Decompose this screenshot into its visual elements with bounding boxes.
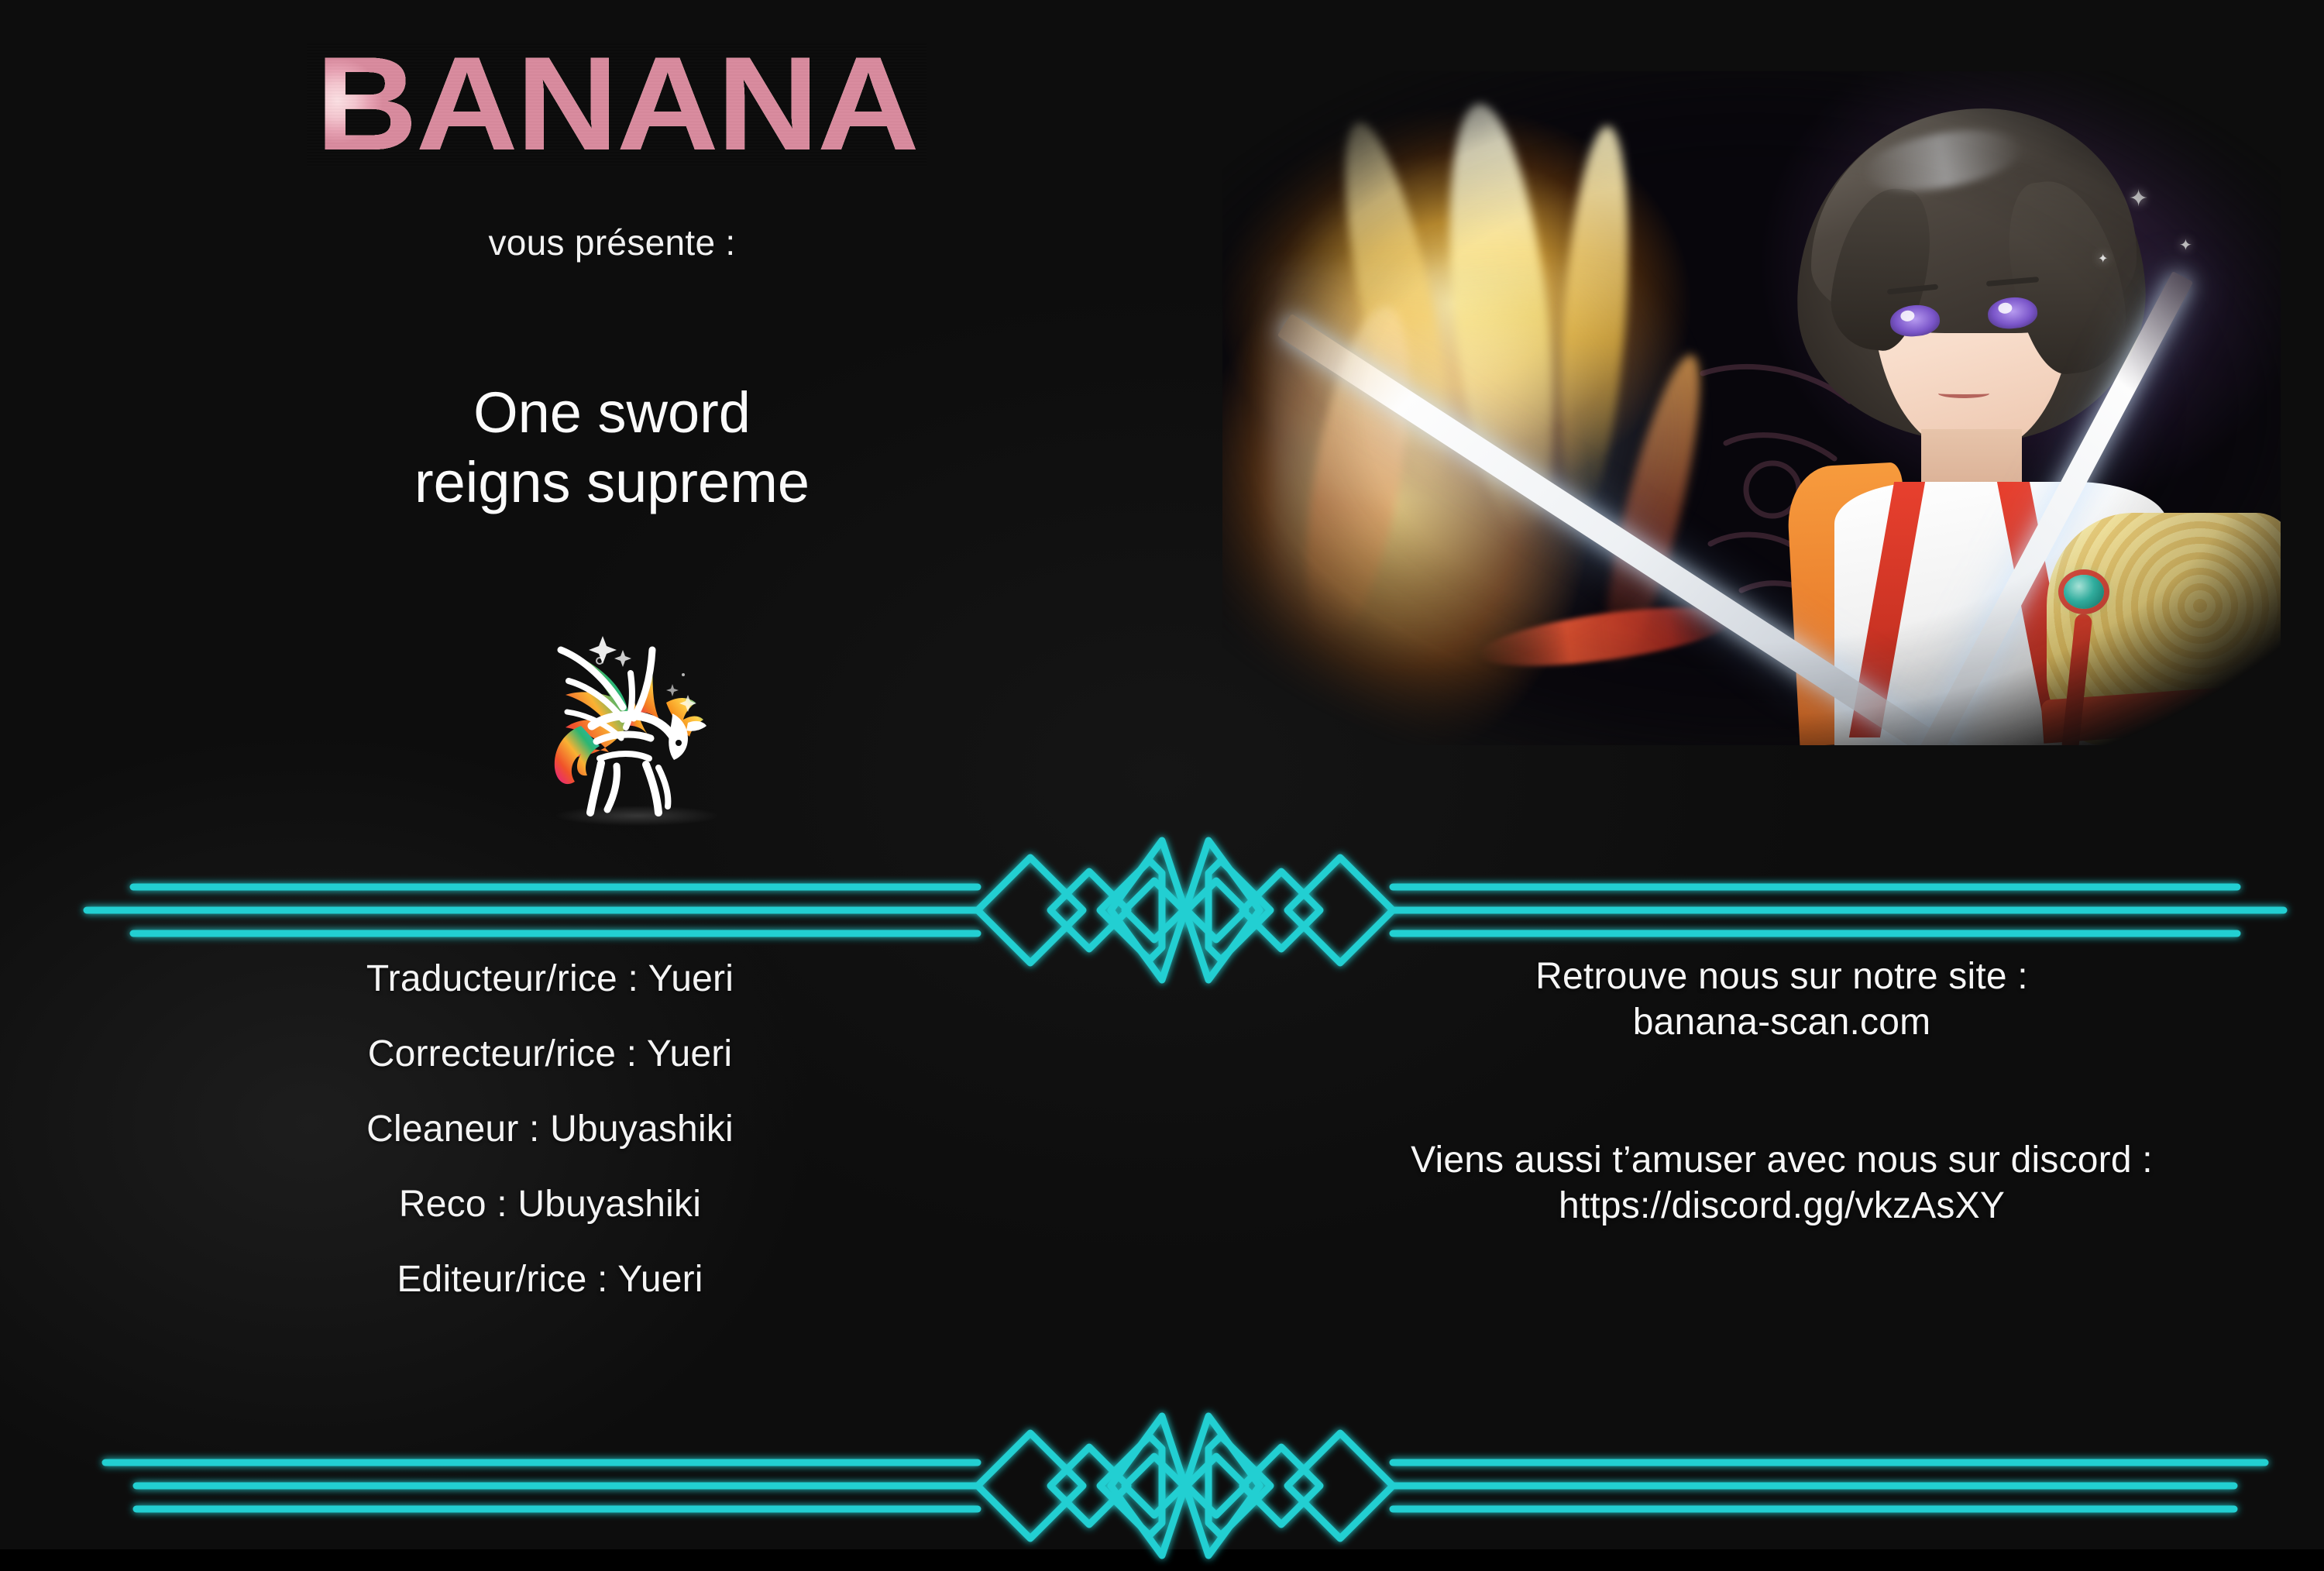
discord-label: Viens aussi t’amuser avec nous sur disco… xyxy=(1239,1138,2324,1184)
gem-brooch xyxy=(2064,575,2104,609)
website-label: Retrouve nous sur notre site : xyxy=(1239,954,2324,1000)
pegasus-shadow xyxy=(556,806,719,826)
credit-line: Correcteur/rice : Yueri xyxy=(139,1036,961,1073)
credit-line: Cleaneur : Ubuyashiki xyxy=(139,1111,961,1148)
tagline: vous présente : xyxy=(0,222,1224,263)
credit-line: Editeur/rice : Yueri xyxy=(139,1261,961,1298)
series-title: One sword reigns supreme xyxy=(0,378,1224,518)
sparkle-icon: ✦ xyxy=(2098,253,2108,266)
credits-list: Traducteur/rice : Yueri Correcteur/rice … xyxy=(139,961,961,1298)
series-title-line2: reigns supreme xyxy=(0,448,1224,517)
website-url[interactable]: banana-scan.com xyxy=(1239,1000,2324,1046)
page-background: BANANA vous présente : One sword reigns … xyxy=(0,0,2324,1549)
series-title-line1: One sword xyxy=(0,378,1224,448)
credit-line: Traducteur/rice : Yueri xyxy=(139,961,961,998)
sparkle-icon: ✦ xyxy=(2129,187,2148,211)
contact-info: Retrouve nous sur notre site : banana-sc… xyxy=(1239,954,2324,1229)
banana-logo: BANANA xyxy=(307,43,927,167)
mouth xyxy=(1938,389,1989,398)
discord-url[interactable]: https://discord.gg/vkzAsXY xyxy=(1239,1184,2324,1229)
discord-block: Viens aussi t’amuser avec nous sur disco… xyxy=(1239,1138,2324,1229)
hero-image: ✦ ✦ ✦ xyxy=(1222,71,2281,745)
banana-logo-text: BANANA xyxy=(307,43,927,167)
website-block: Retrouve nous sur notre site : banana-sc… xyxy=(1239,954,2324,1045)
hero-artwork: ✦ ✦ ✦ xyxy=(1222,71,2281,745)
pegasus-icon xyxy=(536,616,737,825)
sparkle-icon: ✦ xyxy=(2179,238,2192,253)
divider-bottom xyxy=(0,1416,2324,1571)
credit-line: Reco : Ubuyashiki xyxy=(139,1186,961,1223)
